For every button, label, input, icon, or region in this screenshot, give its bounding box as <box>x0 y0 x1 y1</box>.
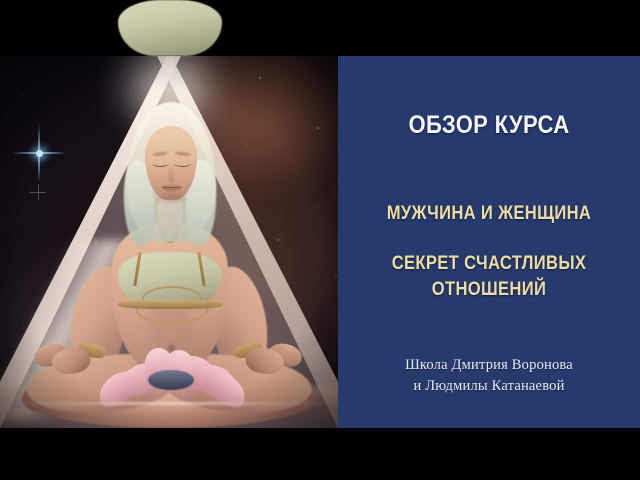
navel <box>168 344 175 353</box>
blue-star-flare-icon <box>16 130 62 176</box>
slide-content: ОБЗОР КУРСА МУЖЧИНА И ЖЕНЩИНА СЕКРЕТ СЧА… <box>0 56 640 428</box>
glowing-triangle <box>0 56 338 428</box>
veil-hood <box>126 102 216 242</box>
course-subtitle-secondary: СЕКРЕТ СЧАСТЛИВЫХ ОТНОШЕНИЙ <box>361 253 618 301</box>
neck <box>157 196 183 236</box>
right-eyebrow <box>175 151 191 157</box>
right-gold-cuff <box>233 341 263 360</box>
nebula-patch <box>0 256 130 428</box>
gold-necklace <box>146 216 198 236</box>
face <box>145 126 197 200</box>
attribution: Школа Дмитрия Воронова и Людмилы Катанае… <box>338 355 640 397</box>
bandeau-gold-arc <box>136 296 208 324</box>
course-subtitle-primary: МУЖЧИНА И ЖЕНЩИНА <box>361 203 618 225</box>
course-title: ОБЗОР КУРСА <box>356 111 622 139</box>
nose <box>168 166 174 182</box>
left-foot <box>49 343 93 378</box>
ground-line <box>0 402 338 405</box>
nebula-patch <box>150 56 338 266</box>
crossed-legs <box>22 358 316 428</box>
bandeau-strap <box>133 252 141 286</box>
letterbox-bottom <box>0 428 640 480</box>
letterbox-top <box>118 0 222 56</box>
lotus-flower <box>96 348 242 410</box>
gold-pendant <box>162 226 179 243</box>
torso <box>112 222 228 374</box>
starfield <box>0 56 338 428</box>
left-closed-eye <box>152 160 169 167</box>
video-frame: ОБЗОР КУРСА МУЖЧИНА И ЖЕНЩИНА СЕКРЕТ СЧА… <box>0 0 640 480</box>
right-hand <box>266 341 304 370</box>
planet-texture <box>150 56 338 356</box>
veil-left-drape <box>121 159 157 247</box>
bandeau-strap <box>197 252 205 286</box>
right-arm <box>202 262 276 382</box>
title-panel: ОБЗОР КУРСА МУЖЧИНА И ЖЕНЩИНА СЕКРЕТ СЧА… <box>338 56 640 428</box>
chin-shadow <box>158 194 184 203</box>
subtitle-line-2: ОТНОШЕНИЙ <box>361 279 618 301</box>
light-beam <box>0 240 190 420</box>
subtitle-line-1: СЕКРЕТ СЧАСТЛИВЫХ <box>392 252 587 274</box>
bandeau-top <box>118 252 222 308</box>
artwork-image <box>0 56 338 428</box>
nebula-patch <box>196 166 338 426</box>
right-closed-eye <box>174 160 191 167</box>
bandeau-gold-arc <box>142 286 202 312</box>
image-vignette <box>0 56 338 428</box>
right-foot <box>243 343 287 378</box>
bandeau-gold-band <box>118 300 222 309</box>
left-hand <box>32 341 70 370</box>
left-eyebrow <box>152 151 168 157</box>
veil-right-drape <box>183 159 219 247</box>
left-thigh <box>24 350 178 419</box>
nebula-patch <box>210 56 338 196</box>
lip-line <box>162 187 181 188</box>
torso-shading <box>150 292 192 366</box>
small-star-flare-icon <box>30 184 46 200</box>
left-arm <box>62 262 136 382</box>
left-gold-cuff <box>77 341 107 360</box>
ground-glow <box>0 386 338 428</box>
right-thigh <box>160 350 314 419</box>
warm-haze <box>0 206 338 428</box>
attribution-line-2: и Людмилы Катанаевой <box>338 376 640 397</box>
lips <box>162 184 181 191</box>
attribution-line-1: Школа Дмитрия Воронова <box>405 357 573 373</box>
